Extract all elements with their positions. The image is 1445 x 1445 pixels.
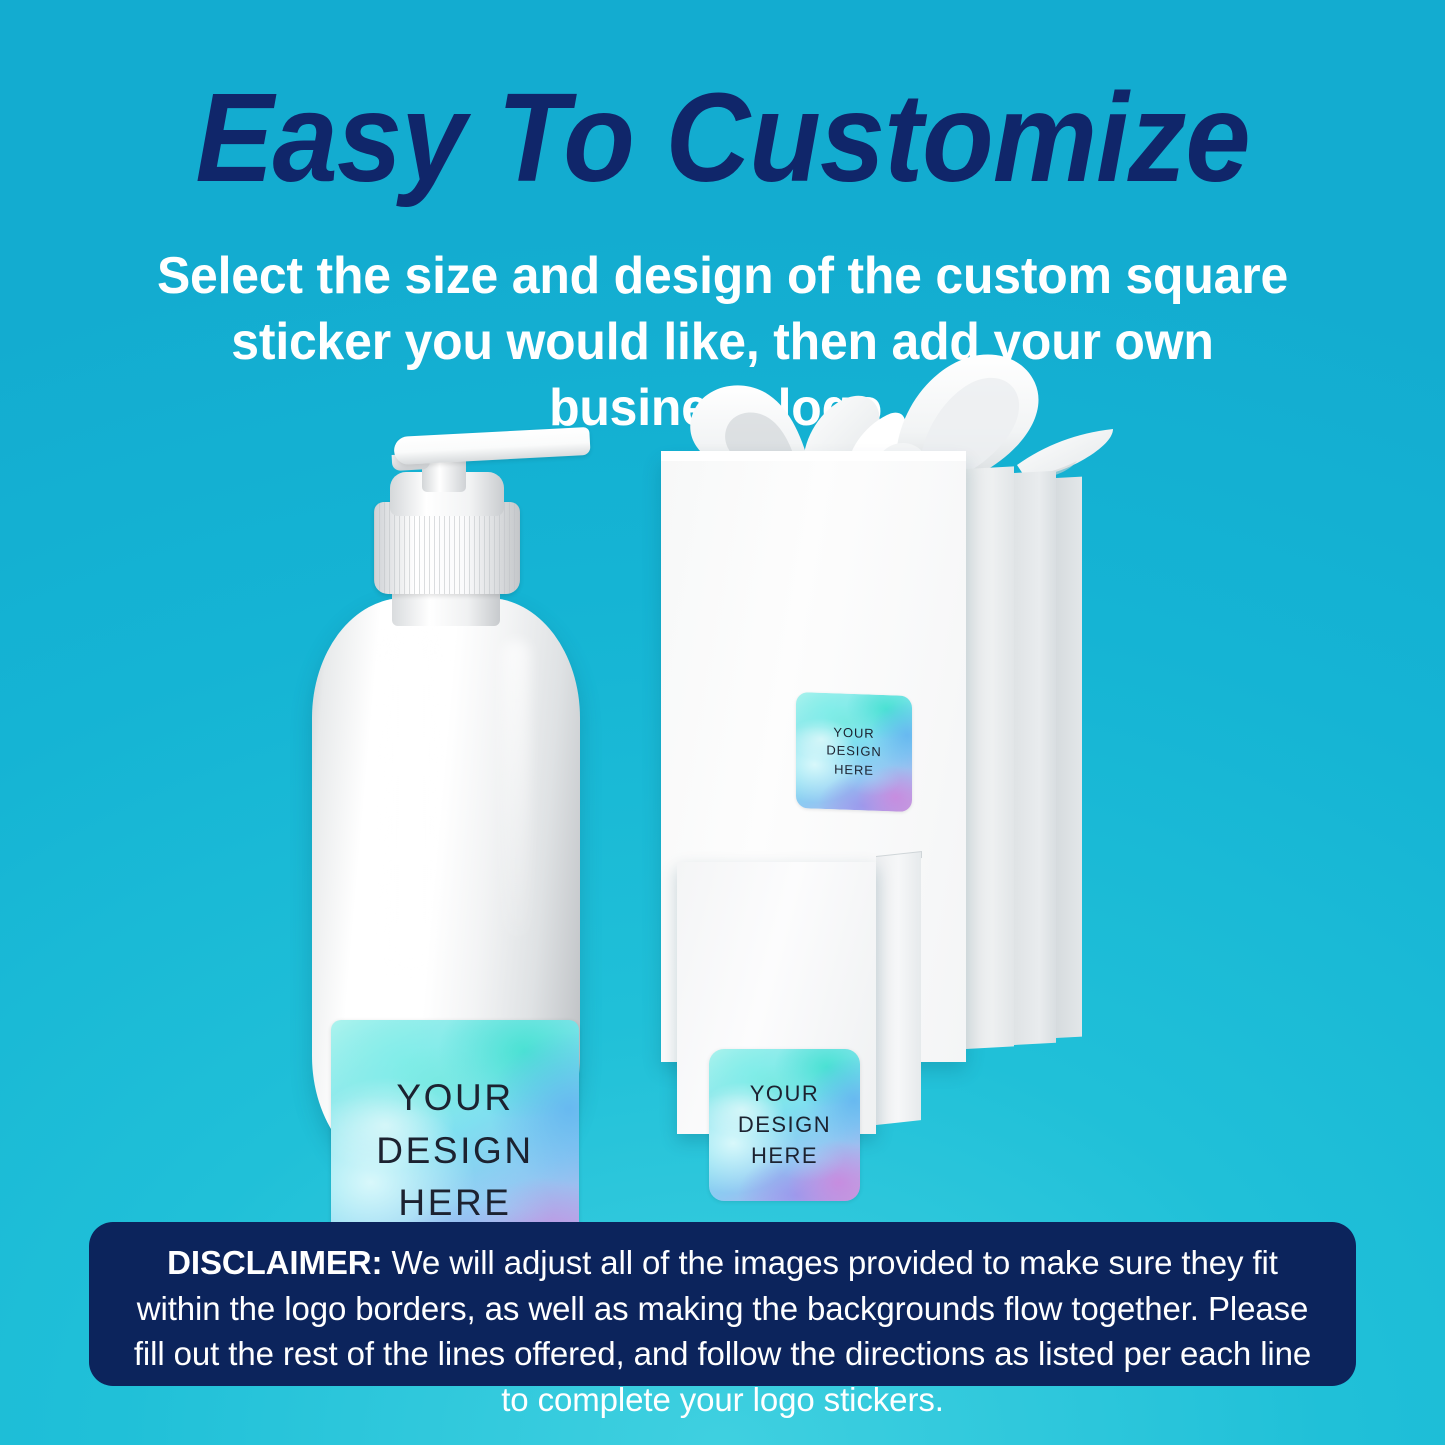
sticker-line-3: HERE: [796, 759, 912, 782]
sticker-medium: YOUR DESIGN HERE: [709, 1049, 860, 1201]
disclaimer-banner: DISCLAIMER: We will adjust all of the im…: [89, 1222, 1356, 1386]
sticker-line-1: YOUR: [331, 1072, 579, 1125]
disclaimer-text: DISCLAIMER: We will adjust all of the im…: [127, 1240, 1318, 1422]
sticker-line-2: DESIGN: [709, 1109, 860, 1140]
gift-box-top-edge: [661, 451, 966, 461]
sticker-line-1: YOUR: [709, 1078, 860, 1109]
sticker-line-3: HERE: [331, 1177, 579, 1230]
sticker-small: YOUR DESIGN HERE: [796, 692, 912, 812]
promo-graphic: Easy To Customize Select the size and de…: [0, 0, 1445, 1445]
bottle-highlight-left: [380, 618, 442, 978]
pump-nozzle: [393, 427, 590, 465]
bottle-highlight-right: [502, 640, 530, 940]
gift-box-side-panel-3: [1056, 477, 1082, 1038]
disclaimer-label: DISCLAIMER:: [167, 1244, 382, 1281]
sticker-line-3: HERE: [709, 1141, 860, 1172]
sticker-large-text: YOUR DESIGN HERE: [331, 1072, 579, 1230]
sticker-medium-text: YOUR DESIGN HERE: [709, 1078, 860, 1172]
gift-box-side-panel-2: [1014, 471, 1056, 1045]
gift-box-side-panel-1: [966, 466, 1014, 1049]
product-box-side-panel: [876, 852, 921, 1125]
sticker-line-2: DESIGN: [331, 1125, 579, 1178]
sticker-small-text: YOUR DESIGN HERE: [796, 722, 912, 781]
